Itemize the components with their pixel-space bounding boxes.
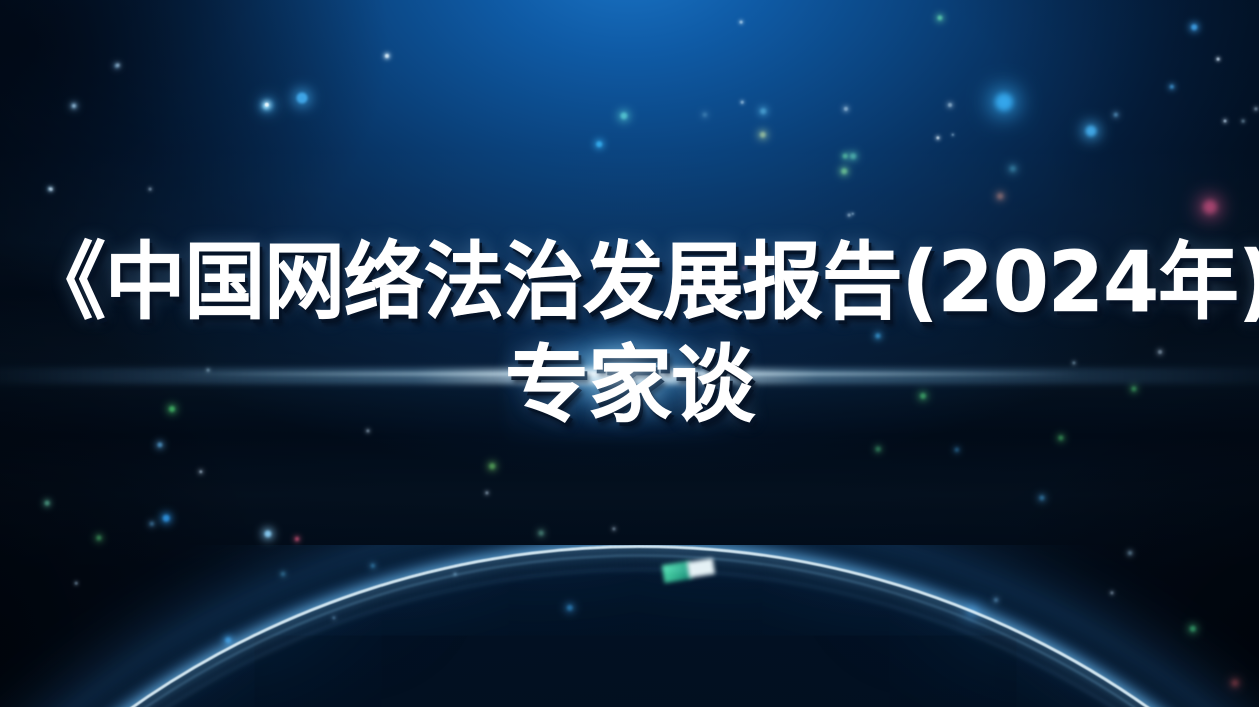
particle-dot xyxy=(1114,113,1118,117)
particle-dot xyxy=(843,154,848,159)
particle-dot xyxy=(1224,120,1227,123)
particle-dot xyxy=(163,515,170,522)
poster-title-block: 《中国网络法治发展报告(2024年)》 专家谈 xyxy=(0,238,1259,430)
particle-dot xyxy=(295,537,299,541)
particle-dot xyxy=(1058,435,1063,440)
particle-dot xyxy=(199,470,202,473)
particle-dot xyxy=(117,64,120,67)
particle-dot xyxy=(45,501,50,506)
particle-dot xyxy=(1110,591,1113,594)
particle-dot xyxy=(848,214,851,217)
page-title-line-2: 专家谈 xyxy=(0,341,1259,430)
particle-dot xyxy=(760,108,766,114)
particle-dot xyxy=(995,93,1013,111)
particle-dot xyxy=(937,15,942,20)
particle-dot xyxy=(596,141,602,147)
particle-dot xyxy=(371,564,375,568)
particle-dot xyxy=(760,132,766,138)
particle-dot xyxy=(539,531,544,536)
particle-dot xyxy=(876,447,881,452)
particle-dot xyxy=(454,573,457,576)
particle-dot xyxy=(1217,58,1220,61)
particle-dot xyxy=(948,103,952,107)
particle-dot xyxy=(620,112,627,119)
particle-dot xyxy=(332,616,335,619)
page-title-line-1: 《中国网络法治发展报告(2024年)》 xyxy=(25,238,1234,327)
particle-dot xyxy=(997,193,1003,199)
particle-dot xyxy=(936,136,939,139)
particle-dot xyxy=(612,527,615,530)
particle-dot xyxy=(1086,126,1097,137)
particle-dot xyxy=(1242,120,1245,123)
particle-dot xyxy=(1010,166,1016,172)
particle-dot xyxy=(297,93,308,104)
particle-dot xyxy=(1254,107,1257,110)
particle-dot xyxy=(850,153,856,159)
particle-dot xyxy=(1190,626,1196,632)
particle-dot xyxy=(740,21,743,24)
particle-dot xyxy=(281,572,285,576)
particle-dot xyxy=(567,605,573,611)
particle-dot xyxy=(96,535,101,540)
particle-dot xyxy=(1170,85,1174,89)
particle-dot xyxy=(844,107,848,111)
particle-dot xyxy=(1191,24,1197,30)
particle-dot xyxy=(741,101,744,104)
particle-dot xyxy=(485,491,488,494)
particle-dot xyxy=(703,113,707,117)
particle-dot xyxy=(1039,495,1044,500)
particle-dot xyxy=(75,582,78,585)
particle-dot xyxy=(71,103,76,108)
particle-dot xyxy=(149,188,152,191)
particle-dot xyxy=(225,637,231,643)
particle-dot xyxy=(1128,551,1132,555)
particle-dot xyxy=(1232,680,1238,686)
particle-dot xyxy=(955,448,959,452)
particle-dot xyxy=(841,168,847,174)
particle-dot xyxy=(952,134,954,136)
particle-dot xyxy=(852,213,854,215)
particle-dot xyxy=(994,598,998,602)
particle-dot xyxy=(489,463,495,469)
poster-canvas: 《中国网络法治发展报告(2024年)》 专家谈 xyxy=(0,0,1259,707)
particle-dot xyxy=(150,522,154,526)
particle-dot xyxy=(966,606,978,618)
particle-dot xyxy=(1203,200,1217,214)
particle-dot xyxy=(264,530,271,537)
particle-dot xyxy=(157,442,162,447)
